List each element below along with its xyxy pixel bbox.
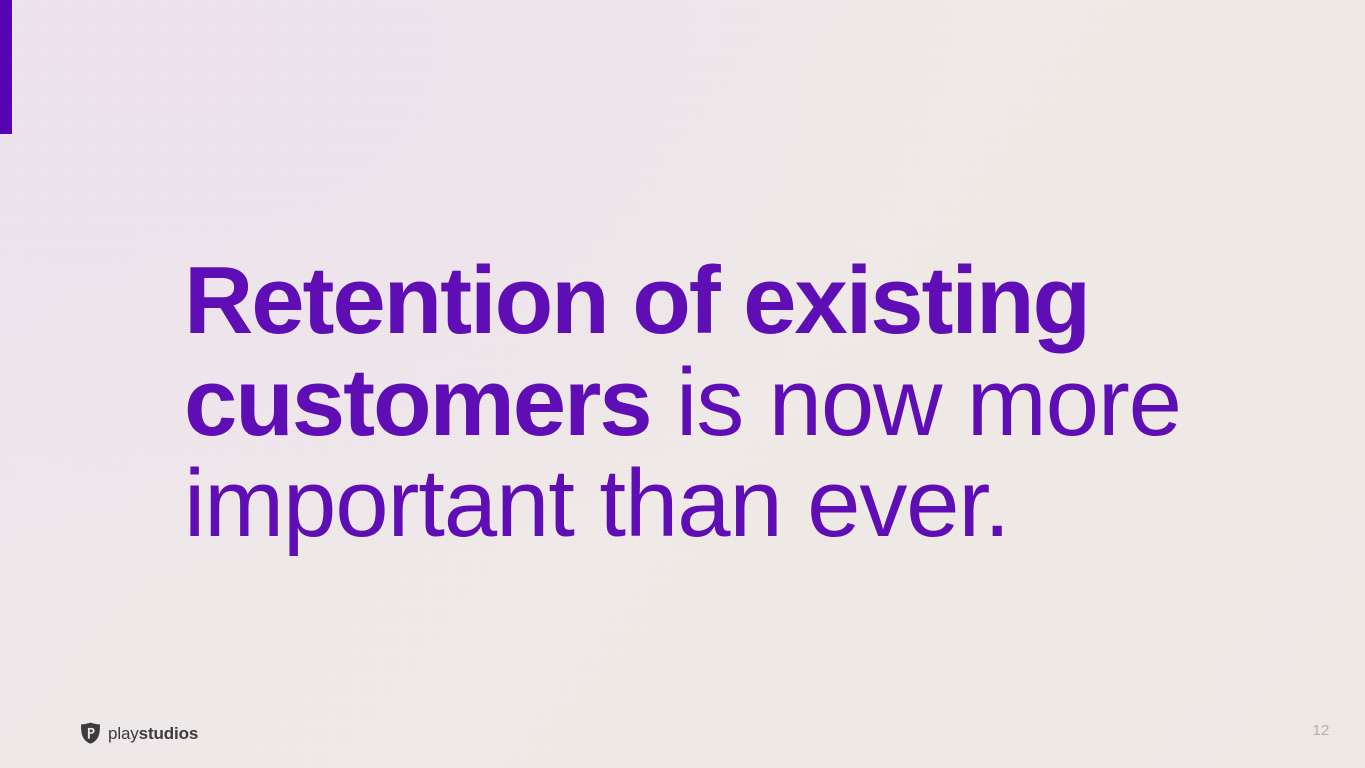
wordmark-studios: studios <box>139 724 199 743</box>
playstudios-logo: playstudios <box>80 722 198 744</box>
playstudios-shield-p-icon <box>80 722 101 744</box>
playstudios-wordmark: playstudios <box>108 725 198 742</box>
presentation-slide: Retention of existing customers is now m… <box>0 0 1365 768</box>
wordmark-play: play <box>108 724 139 743</box>
page-number: 12 <box>1301 722 1341 739</box>
slide-headline: Retention of existing customers is now m… <box>184 250 1274 554</box>
top-left-accent-bar <box>0 0 12 134</box>
